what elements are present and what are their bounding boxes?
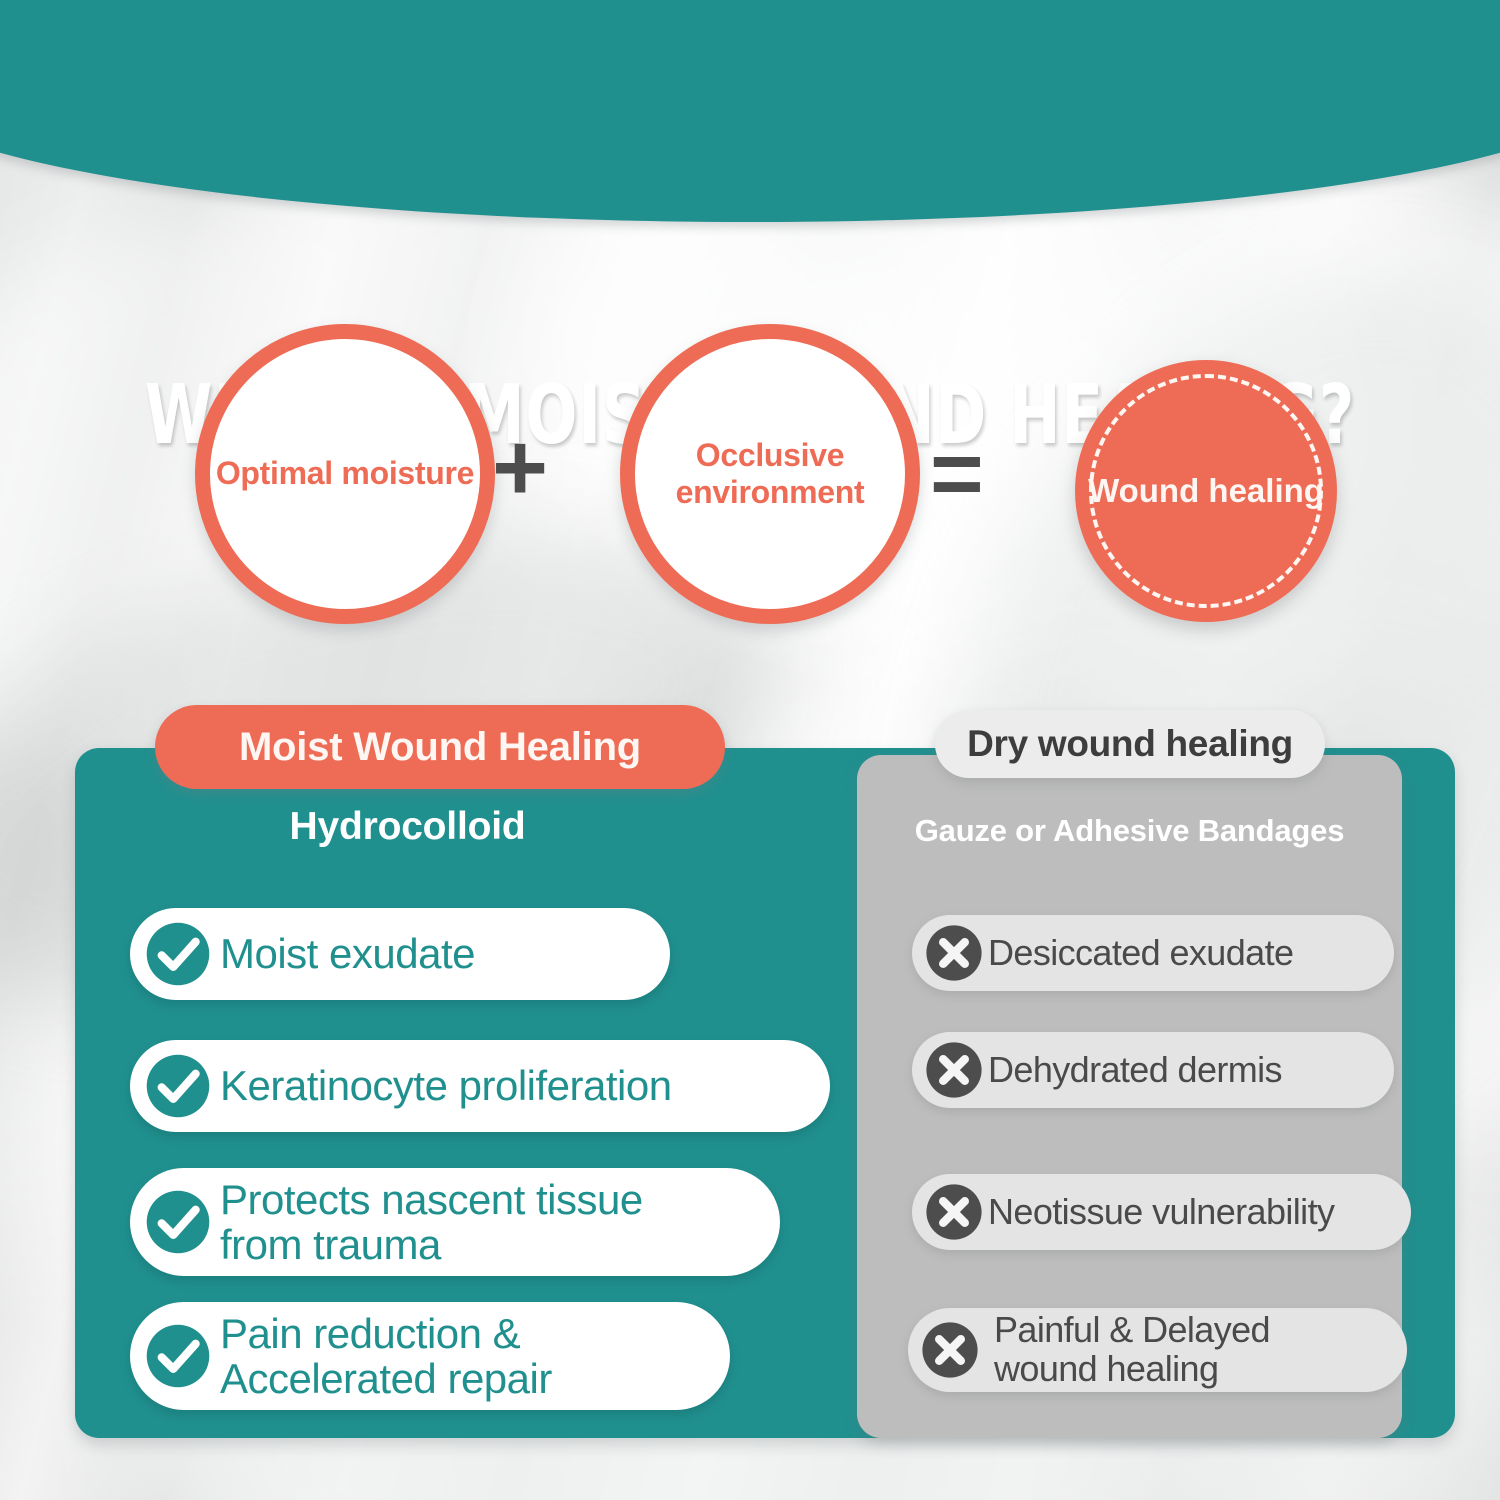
check-circle-icon: [144, 920, 212, 988]
equation-circle-occlusive-environment: Occlusive environment: [620, 324, 920, 624]
infographic-canvas: WHAT IS MOIST WOUND HEALING? Optimal moi…: [0, 0, 1500, 1500]
x-circle-icon: [924, 923, 984, 983]
moist-subtitle: Hydrocolloid: [75, 805, 740, 849]
list-item-label: Moist exudate: [220, 931, 475, 976]
list-item-label: Desiccated exudate: [988, 934, 1293, 973]
list-item[interactable]: Protects nascent tissue from trauma: [130, 1168, 780, 1276]
list-item-label: Painful & Delayed wound healing: [994, 1311, 1270, 1389]
list-item[interactable]: Painful & Delayed wound healing: [908, 1308, 1407, 1392]
x-circle-icon: [924, 1040, 984, 1100]
moist-wound-healing-badge: Moist Wound Healing: [155, 705, 725, 789]
equation-circle-label: Wound healing: [1088, 472, 1324, 511]
check-circle-icon: [144, 1052, 212, 1120]
list-item-label: Pain reduction & Accelerated repair: [220, 1311, 552, 1402]
list-item[interactable]: Keratinocyte proliferation: [130, 1040, 830, 1132]
equation-circle-label: Occlusive environment: [635, 437, 905, 511]
dry-subtitle: Gauze or Adhesive Bandages: [857, 813, 1402, 849]
list-item[interactable]: Dehydrated dermis: [912, 1032, 1394, 1108]
check-circle-icon: [144, 1322, 212, 1390]
dry-wound-healing-badge: Dry wound healing: [935, 710, 1325, 778]
x-circle-icon: [920, 1320, 980, 1380]
badge-label: Dry wound healing: [967, 723, 1293, 765]
list-item[interactable]: Moist exudate: [130, 908, 670, 1000]
equation-circle-label: Optimal moisture: [216, 455, 474, 492]
list-item-label: Dehydrated dermis: [988, 1051, 1282, 1090]
equation-circle-wound-healing: Wound healing: [1075, 360, 1337, 622]
list-item[interactable]: Pain reduction & Accelerated repair: [130, 1302, 730, 1410]
list-item-label: Neotissue vulnerability: [988, 1193, 1334, 1232]
equation-row: Optimal moisture + Occlusive environment…: [0, 312, 1500, 592]
equals-operator-icon: =: [930, 428, 984, 520]
check-circle-icon: [144, 1188, 212, 1256]
badge-label: Moist Wound Healing: [239, 725, 641, 770]
plus-operator-icon: +: [492, 420, 548, 516]
list-item[interactable]: Neotissue vulnerability: [912, 1174, 1411, 1250]
header-banner: [0, 0, 1500, 222]
list-item-label: Protects nascent tissue from trauma: [220, 1177, 643, 1268]
x-circle-icon: [924, 1182, 984, 1242]
equation-circle-optimal-moisture: Optimal moisture: [195, 324, 495, 624]
list-item-label: Keratinocyte proliferation: [220, 1063, 672, 1108]
list-item[interactable]: Desiccated exudate: [912, 915, 1394, 991]
